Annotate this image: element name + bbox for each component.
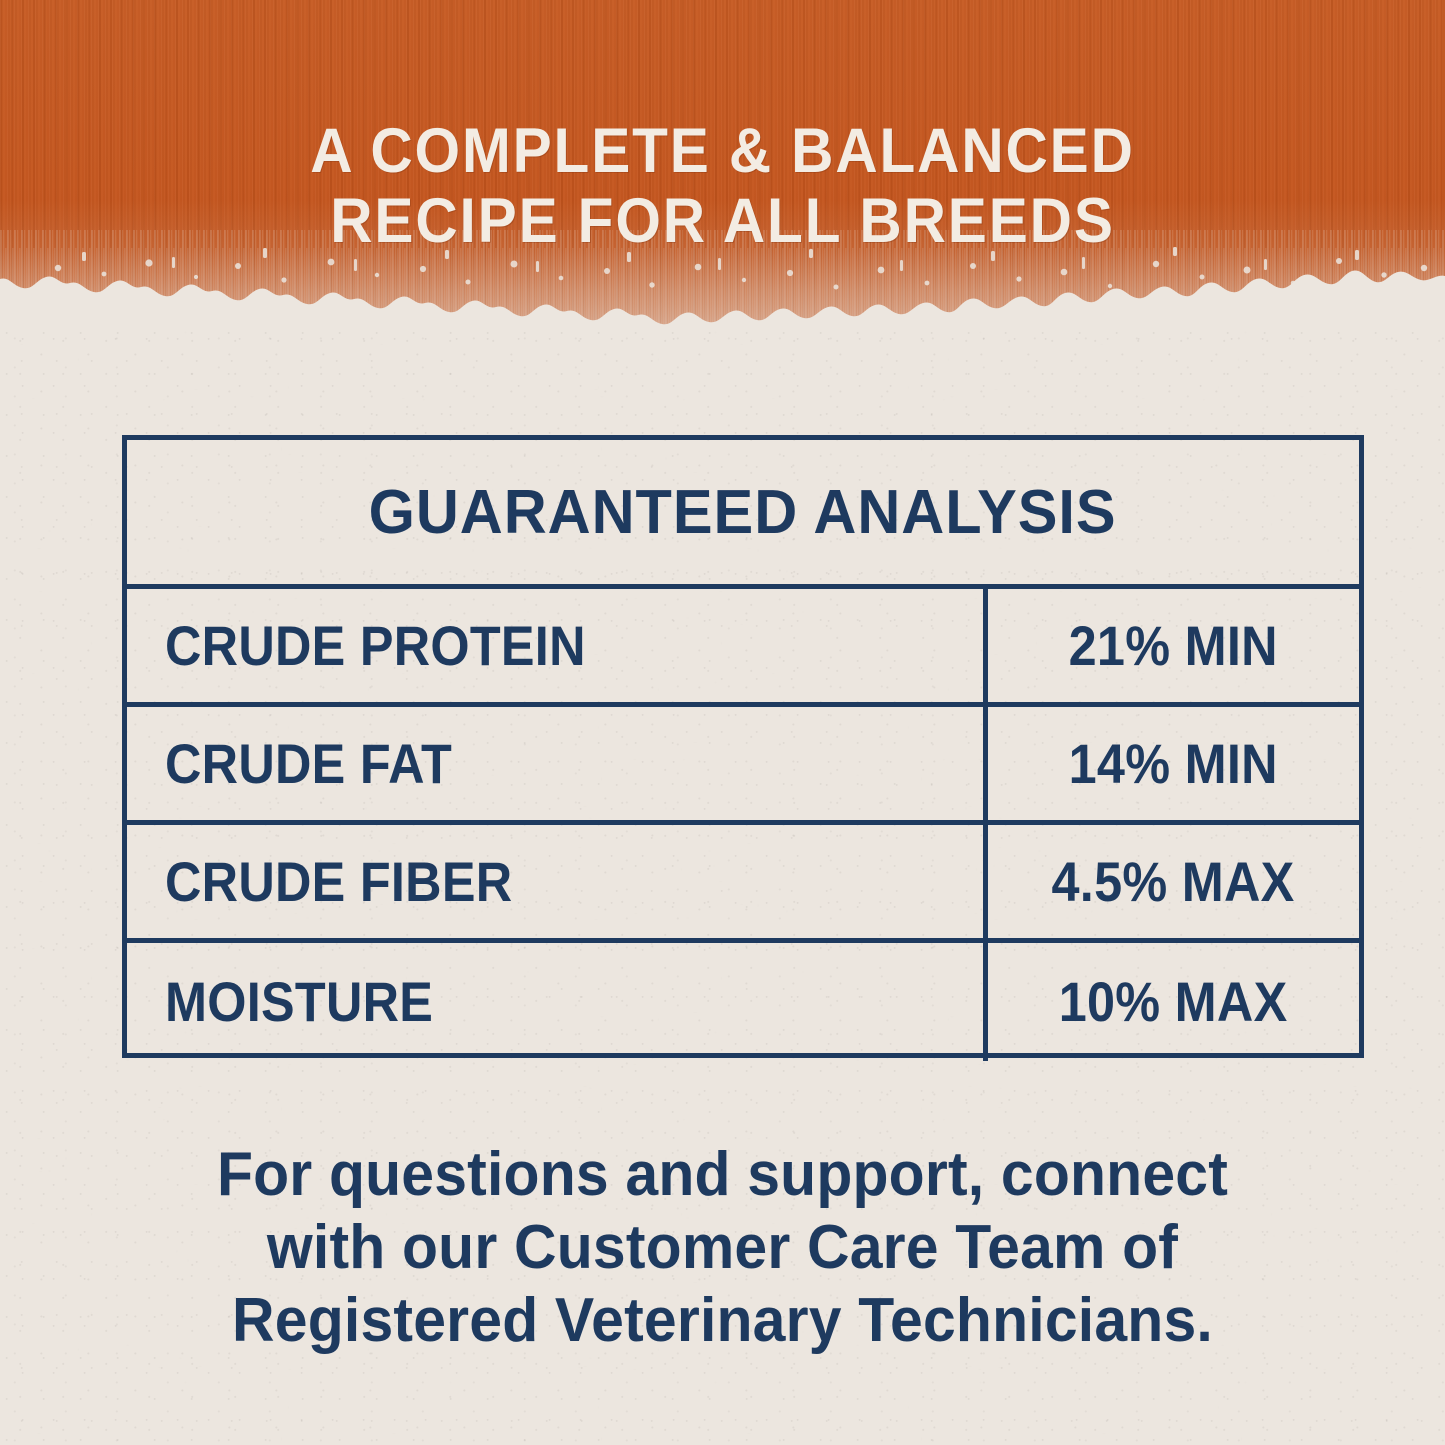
- table-row: CRUDE FIBER 4.5% MAX: [127, 825, 1359, 943]
- footer-line-2: with our Customer Care Team of: [93, 1211, 1352, 1284]
- table-row: MOISTURE 10% MAX: [127, 943, 1359, 1061]
- customer-care-message: For questions and support, connect with …: [93, 1138, 1352, 1357]
- table-row: CRUDE FAT 14% MIN: [127, 707, 1359, 825]
- nutrient-value: 14% MIN: [1069, 736, 1278, 792]
- table-title-row: GUARANTEED ANALYSIS: [127, 440, 1359, 589]
- nutrient-label-cell: CRUDE PROTEIN: [127, 589, 988, 702]
- nutrient-value: 21% MIN: [1069, 618, 1278, 674]
- nutrient-value: 10% MAX: [1059, 974, 1288, 1030]
- nutrient-label-cell: CRUDE FIBER: [127, 825, 988, 938]
- headline-line-1: A COMPLETE & BALANCED: [51, 116, 1395, 186]
- nutrient-label-cell: MOISTURE: [127, 943, 988, 1061]
- nutrient-label: CRUDE PROTEIN: [165, 618, 586, 674]
- headline: A COMPLETE & BALANCED RECIPE FOR ALL BRE…: [51, 116, 1395, 256]
- footer-line-3: Registered Veterinary Technicians.: [93, 1284, 1352, 1357]
- table-row: CRUDE PROTEIN 21% MIN: [127, 589, 1359, 707]
- table-body: CRUDE PROTEIN 21% MIN CRUDE FAT 14% MIN …: [127, 589, 1359, 1061]
- table-title: GUARANTEED ANALYSIS: [369, 477, 1117, 548]
- nutrient-value-cell: 10% MAX: [988, 943, 1359, 1061]
- nutrient-label-cell: CRUDE FAT: [127, 707, 988, 820]
- nutrient-value-cell: 21% MIN: [988, 589, 1359, 702]
- nutrient-value-cell: 4.5% MAX: [988, 825, 1359, 938]
- headline-line-2: RECIPE FOR ALL BREEDS: [51, 186, 1395, 256]
- nutrient-value-cell: 14% MIN: [988, 707, 1359, 820]
- footer-line-1: For questions and support, connect: [93, 1138, 1352, 1211]
- guaranteed-analysis-table: GUARANTEED ANALYSIS CRUDE PROTEIN 21% MI…: [122, 435, 1364, 1058]
- nutrient-value: 4.5% MAX: [1052, 854, 1295, 910]
- nutrient-label: MOISTURE: [165, 974, 433, 1030]
- product-info-panel: A COMPLETE & BALANCED RECIPE FOR ALL BRE…: [0, 0, 1445, 1445]
- nutrient-label: CRUDE FIBER: [165, 854, 512, 910]
- nutrient-label: CRUDE FAT: [165, 736, 452, 792]
